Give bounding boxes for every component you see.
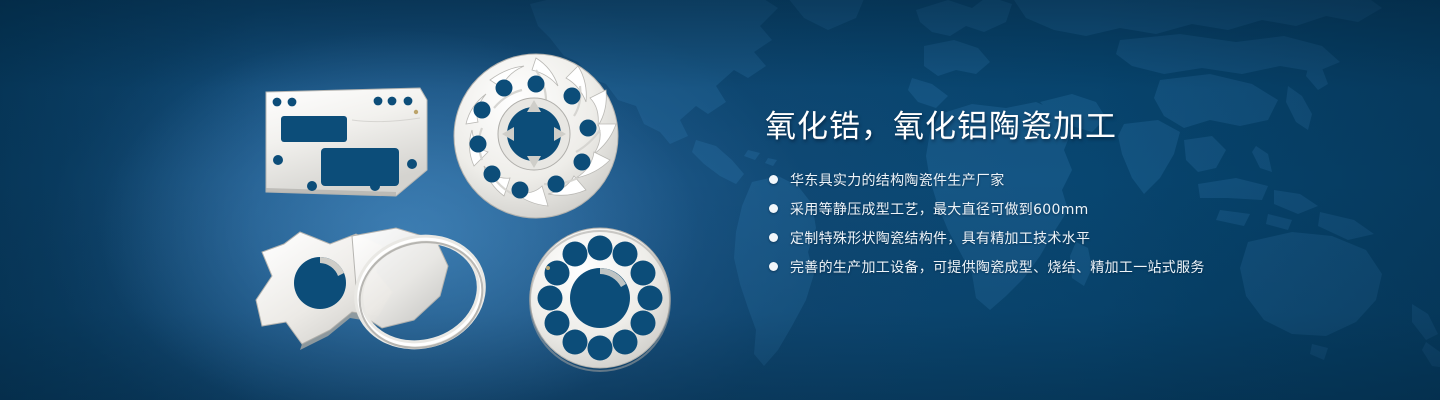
list-item: 完善的生产加工设备，可提供陶瓷成型、烧结、精加工一站式服务 [769, 256, 1385, 278]
bullet-dot-icon [769, 204, 778, 213]
feature-text: 华东具实力的结构陶瓷件生产厂家 [790, 170, 1005, 190]
product-ceramic-impeller-disc [454, 54, 618, 218]
list-item: 采用等静压成型工艺，最大直径可做到600mm [769, 198, 1385, 220]
bullet-dot-icon [769, 262, 778, 271]
list-item: 定制特殊形状陶瓷结构件，具有精加工技术水平 [769, 227, 1385, 249]
product-photo-cluster [0, 0, 720, 400]
feature-text: 采用等静压成型工艺，最大直径可做到600mm [790, 199, 1089, 219]
banner-copy: 氧化锆，氧化铝陶瓷加工 华东具实力的结构陶瓷件生产厂家 采用等静压成型工艺，最大… [765, 108, 1385, 285]
feature-text: 完善的生产加工设备，可提供陶瓷成型、烧结、精加工一站式服务 [790, 257, 1205, 277]
bullet-dot-icon [769, 175, 778, 184]
hero-banner: 氧化锆，氧化铝陶瓷加工 华东具实力的结构陶瓷件生产厂家 采用等静压成型工艺，最大… [0, 0, 1440, 400]
bullet-dot-icon [769, 233, 778, 242]
feature-list: 华东具实力的结构陶瓷件生产厂家 采用等静压成型工艺，最大直径可做到600mm 定… [769, 169, 1385, 278]
list-item: 华东具实力的结构陶瓷件生产厂家 [769, 169, 1385, 191]
feature-text: 定制特殊形状陶瓷结构件，具有精加工技术水平 [790, 228, 1090, 248]
page-title: 氧化锆，氧化铝陶瓷加工 [765, 108, 1385, 147]
product-ceramic-flat-plate [266, 88, 427, 196]
